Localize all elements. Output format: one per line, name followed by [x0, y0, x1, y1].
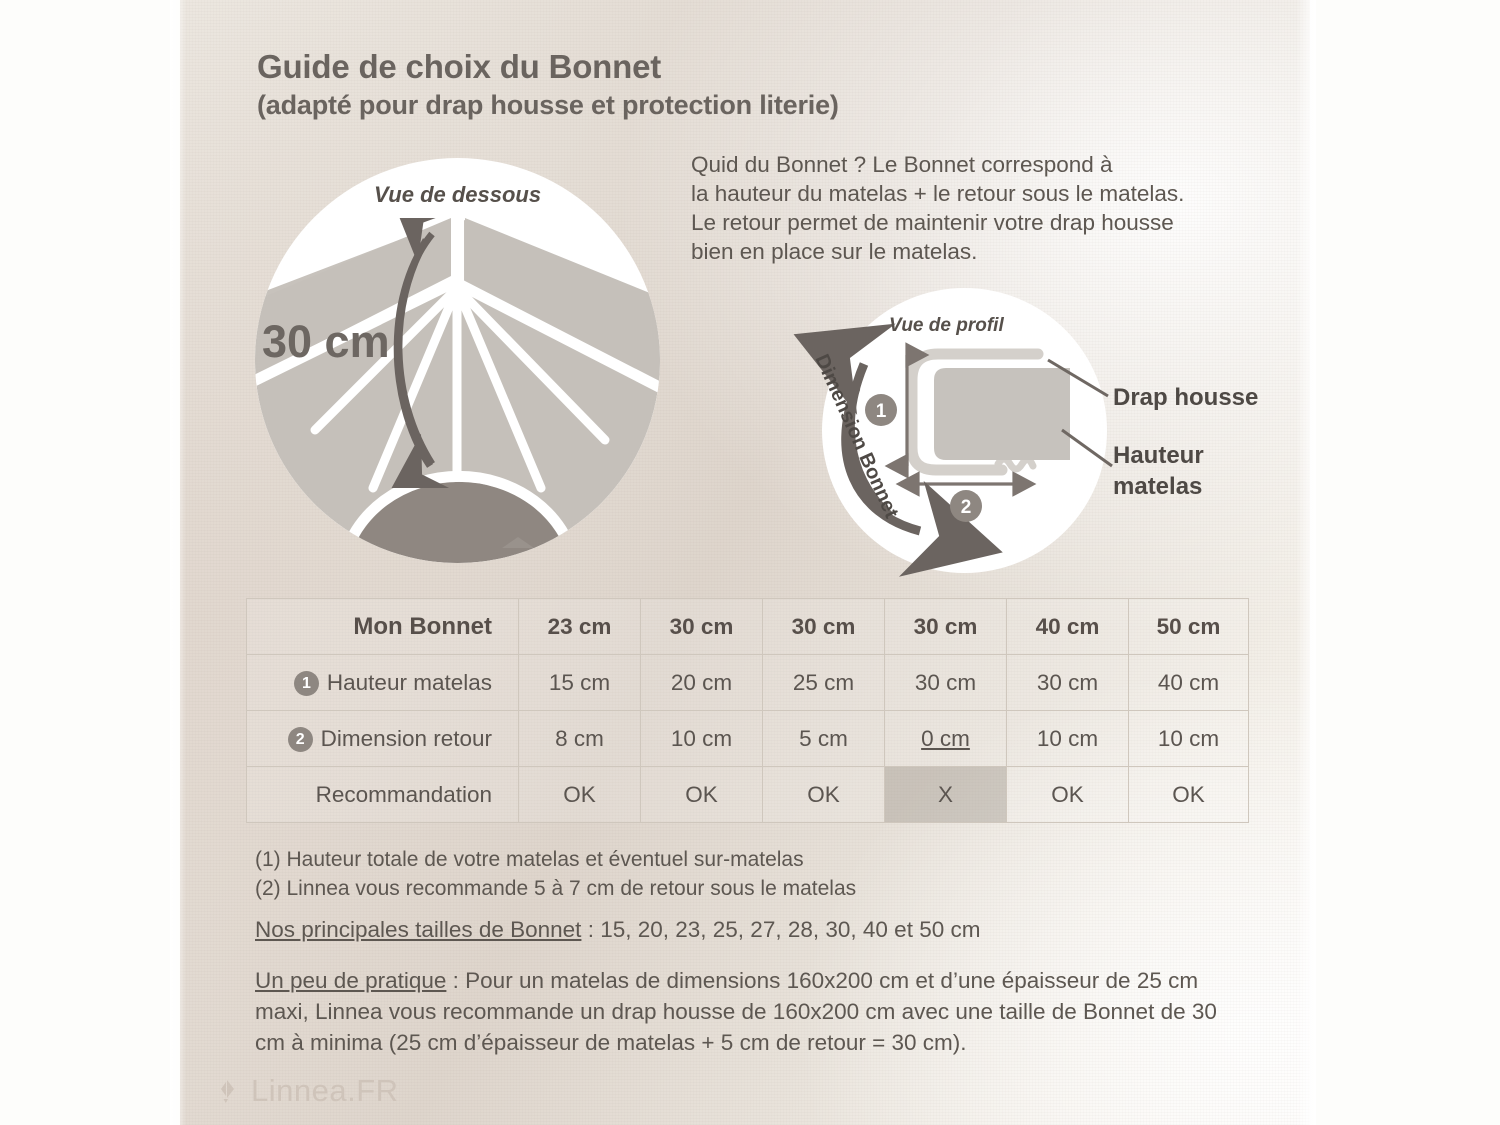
cell-reco-4: OK	[1007, 767, 1129, 823]
cell-retour-0: 8 cm	[519, 711, 641, 767]
row-label-hauteur: 1Hauteur matelas	[247, 655, 519, 711]
footnotes: (1) Hauteur totale de votre matelas et é…	[255, 845, 856, 903]
cell-reco-2: OK	[763, 767, 885, 823]
sizes-value: : 15, 20, 23, 25, 27, 28, 30, 40 et 50 c…	[581, 917, 980, 942]
left-edge-fade	[170, 0, 186, 1125]
bottom-view-caption: Vue de dessous	[374, 182, 541, 208]
cell-bonnet-1: 30 cm	[641, 599, 763, 655]
table-row-reco: Recommandation OK OK OK X OK OK	[247, 767, 1249, 823]
table-row-retour: 2Dimension retour 8 cm 10 cm 5 cm 0 cm 1…	[247, 711, 1249, 767]
practice-paragraph: Un peu de pratique : Pour un matelas de …	[255, 965, 1230, 1058]
intro-paragraph: Quid du Bonnet ? Le Bonnet correspond à …	[691, 150, 1184, 266]
row-label-retour: 2Dimension retour	[247, 711, 519, 767]
cell-hauteur-4: 30 cm	[1007, 655, 1129, 711]
sizes-label: Nos principales tailles de Bonnet	[255, 917, 581, 942]
cell-reco-0: OK	[519, 767, 641, 823]
cell-bonnet-5: 50 cm	[1129, 599, 1249, 655]
row-label-reco: Recommandation	[247, 767, 519, 823]
row-label-hauteur-text: Hauteur matelas	[327, 670, 492, 695]
row-label-bonnet: Mon Bonnet	[247, 599, 519, 655]
cell-retour-4: 10 cm	[1007, 711, 1129, 767]
row-label-retour-text: Dimension retour	[321, 726, 492, 751]
cell-reco-3: X	[885, 767, 1007, 823]
cell-retour-2: 5 cm	[763, 711, 885, 767]
right-edge-fade	[1296, 0, 1316, 1125]
cell-reco-5: OK	[1129, 767, 1249, 823]
cell-retour-1: 10 cm	[641, 711, 763, 767]
profile-view-caption: Vue de profil	[889, 315, 1004, 337]
cell-bonnet-2: 30 cm	[763, 599, 885, 655]
badge-2: 2	[288, 727, 313, 752]
cell-retour-3-text: 0 cm	[921, 726, 970, 751]
infographic-page: Guide de choix du Bonnet (adapté pour dr…	[0, 0, 1500, 1125]
sizes-line: Nos principales tailles de Bonnet : 15, …	[255, 917, 980, 943]
cell-retour-3: 0 cm	[885, 711, 1007, 767]
cell-hauteur-0: 15 cm	[519, 655, 641, 711]
page-subtitle: (adapté pour drap housse et protection l…	[257, 90, 839, 121]
cell-hauteur-1: 20 cm	[641, 655, 763, 711]
cell-hauteur-5: 40 cm	[1129, 655, 1249, 711]
page-title: Guide de choix du Bonnet	[257, 48, 661, 86]
cell-bonnet-0: 23 cm	[519, 599, 641, 655]
practice-label: Un peu de pratique	[255, 968, 446, 993]
cell-hauteur-3: 30 cm	[885, 655, 1007, 711]
profile-marker-1-text: 1	[876, 401, 887, 422]
brand-logo[interactable]: Linnea.FR	[214, 1073, 399, 1109]
callout-hauteur-matelas: Hauteur matelas	[1113, 440, 1204, 502]
callout-drap-housse: Drap housse	[1113, 382, 1258, 413]
linnea-logo-text: Linnea.FR	[251, 1073, 399, 1109]
profile-marker-2-text: 2	[961, 497, 972, 518]
cell-bonnet-4: 40 cm	[1007, 599, 1129, 655]
badge-1: 1	[294, 671, 319, 696]
table-row-header: Mon Bonnet 23 cm 30 cm 30 cm 30 cm 40 cm…	[247, 599, 1249, 655]
cell-reco-1: OK	[641, 767, 763, 823]
table-row-hauteur: 1Hauteur matelas 15 cm 20 cm 25 cm 30 cm…	[247, 655, 1249, 711]
cell-retour-5: 10 cm	[1129, 711, 1249, 767]
bottom-view-measure-label: 30 cm	[262, 316, 390, 368]
cell-bonnet-3: 30 cm	[885, 599, 1007, 655]
bonnet-table: Mon Bonnet 23 cm 30 cm 30 cm 30 cm 40 cm…	[246, 598, 1248, 817]
linnea-diamond-icon	[214, 1076, 240, 1106]
cell-hauteur-2: 25 cm	[763, 655, 885, 711]
